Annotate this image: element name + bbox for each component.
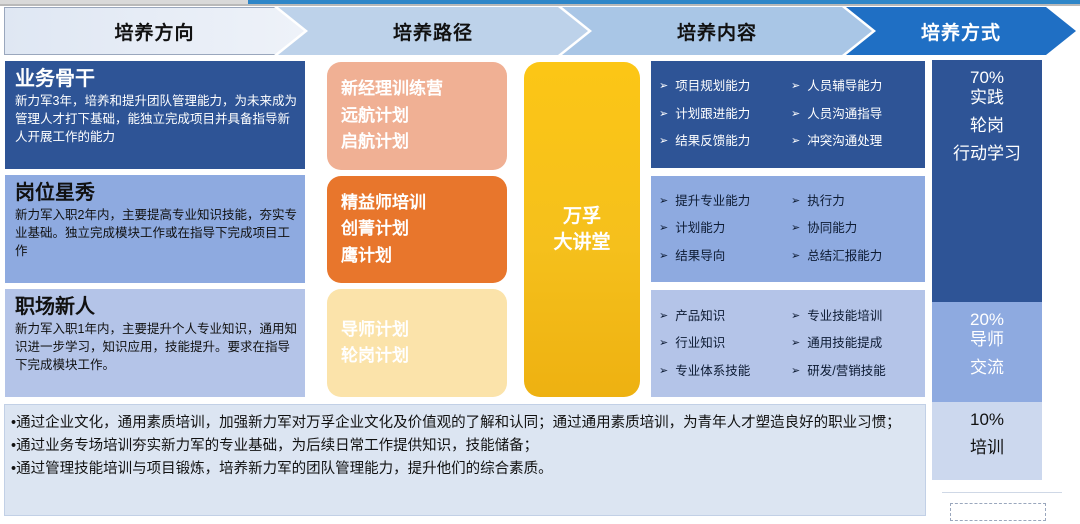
bullet-arrow-icon: ➢ bbox=[791, 338, 800, 349]
competency-label: 协同能力 bbox=[807, 221, 857, 236]
competency-label: 冲突沟通处理 bbox=[807, 134, 882, 149]
ratio-segment-10[interactable]: 10% 培训 bbox=[932, 402, 1042, 480]
note-item: •通过业务专场培训夯实新力军的专业基础，为后续日常工作提供知识，技能储备； bbox=[11, 435, 917, 457]
divider-rule bbox=[942, 492, 1062, 493]
competency-label: 总结汇报能力 bbox=[807, 249, 882, 264]
plan-card-manager-camp[interactable]: 新经理训练营 远航计划 启航计划 bbox=[327, 62, 507, 170]
plan-line: 启航计划 bbox=[341, 130, 493, 155]
breadcrumb-step-3-label: 培养内容 bbox=[677, 18, 757, 45]
competency-label: 人员沟通指导 bbox=[807, 107, 882, 122]
breadcrumb-step-1-label: 培养方向 bbox=[114, 18, 194, 45]
slide-canvas: 培养方向 培养路径 培养内容 培养方式 业务骨干 新力军3年，培养和提升团队管理… bbox=[0, 0, 1080, 524]
bullet-arrow-icon: ➢ bbox=[791, 366, 800, 377]
competency-item: ➢ 总结汇报能力 bbox=[791, 249, 917, 264]
bullet-arrow-icon: ➢ bbox=[659, 366, 668, 377]
bullet-arrow-icon: ➢ bbox=[791, 196, 800, 207]
breadcrumb-step-2-label: 培养路径 bbox=[393, 18, 473, 45]
breadcrumb-step-1[interactable]: 培养方向 bbox=[4, 7, 304, 55]
competency-item: ➢ 计划跟进能力 bbox=[659, 107, 791, 122]
bullet-arrow-icon: ➢ bbox=[659, 81, 668, 92]
audience-card-body: 新力军入职2年内，主要提高专业知识技能，夯实专业基础。独立完成模块工作或在指导下… bbox=[15, 207, 297, 260]
note-item: •通过管理技能培训与项目锻炼，培养新力军的团队管理能力，提升他们的综合素质。 bbox=[11, 458, 917, 480]
competency-label: 人员辅导能力 bbox=[807, 79, 882, 94]
ratio-extra: 轮岗 bbox=[970, 116, 1004, 136]
note-item: •通过企业文化，通用素质培训，加强新力军对万孚企业文化及价值观的了解和认同；通过… bbox=[11, 412, 917, 434]
ratio-segment-20[interactable]: 20% 导师 交流 bbox=[932, 302, 1042, 402]
bullet-arrow-icon: ➢ bbox=[791, 223, 800, 234]
competency-item: ➢ 人员辅导能力 bbox=[791, 79, 917, 94]
competency-item: ➢ 研发/营销技能 bbox=[791, 364, 917, 379]
competency-item: ➢ 项目规划能力 bbox=[659, 79, 791, 94]
ratio-label: 导师 bbox=[970, 330, 1004, 350]
bullet-arrow-icon: ➢ bbox=[659, 109, 668, 120]
ratio-label: 实践 bbox=[970, 88, 1004, 108]
competency-row: ➢ 结果导向 ➢ 总结汇报能力 bbox=[659, 249, 917, 264]
audience-card-title: 职场新人 bbox=[15, 297, 297, 318]
competency-item: ➢ 行业知识 bbox=[659, 336, 791, 351]
competency-item: ➢ 结果导向 bbox=[659, 249, 791, 264]
bullet-arrow-icon: ➢ bbox=[791, 311, 800, 322]
audience-card-newcomer[interactable]: 职场新人 新力军入职1年内，主要提升个人专业知识，通用知识进一步学习，知识应用，… bbox=[4, 288, 306, 398]
competency-item: ➢ 产品知识 bbox=[659, 309, 791, 324]
competency-row: ➢ 项目规划能力 ➢ 人员辅导能力 bbox=[659, 79, 917, 94]
bullet-arrow-icon: ➢ bbox=[659, 196, 668, 207]
competency-card-professional[interactable]: ➢ 提升专业能力 ➢ 执行力 ➢ 计划能力 ➢ 协同能力 bbox=[650, 175, 926, 284]
competency-item: ➢ 计划能力 bbox=[659, 221, 791, 236]
competency-label: 专业体系技能 bbox=[675, 364, 750, 379]
bullet-arrow-icon: ➢ bbox=[659, 136, 668, 147]
plan-line: 轮岗计划 bbox=[341, 344, 493, 369]
breadcrumb-step-2[interactable]: 培养路径 bbox=[278, 7, 588, 55]
competency-label: 提升专业能力 bbox=[675, 194, 750, 209]
competency-label: 项目规划能力 bbox=[675, 79, 750, 94]
audience-card-title: 业务骨干 bbox=[15, 69, 297, 90]
competency-item: ➢ 执行力 bbox=[791, 194, 917, 209]
plan-line: 精益师培训 bbox=[341, 191, 493, 216]
competency-label: 产品知识 bbox=[675, 309, 725, 324]
competency-label: 计划能力 bbox=[675, 221, 725, 236]
plan-card-lean-master[interactable]: 精益师培训 创菁计划 鹰计划 bbox=[327, 176, 507, 284]
plan-line: 导师计划 bbox=[341, 318, 493, 343]
competency-item: ➢ 提升专业能力 bbox=[659, 194, 791, 209]
bullet-arrow-icon: ➢ bbox=[659, 251, 668, 262]
competency-label: 专业技能培训 bbox=[807, 309, 882, 324]
competency-label: 结果反馈能力 bbox=[675, 134, 750, 149]
competency-row: ➢ 行业知识 ➢ 通用技能提成 bbox=[659, 336, 917, 351]
audience-card-title: 岗位星秀 bbox=[15, 183, 297, 204]
ratio-percent: 20% bbox=[970, 310, 1004, 330]
bullet-arrow-icon: ➢ bbox=[659, 311, 668, 322]
ratio-segment-70[interactable]: 70% 实践 轮岗 行动学习 bbox=[932, 60, 1042, 302]
competency-item: ➢ 结果反馈能力 bbox=[659, 134, 791, 149]
ratio-percent: 10% bbox=[970, 410, 1004, 430]
bullet-arrow-icon: ➢ bbox=[791, 81, 800, 92]
audience-card-body: 新力军3年，培养和提升团队管理能力，为未来成为管理人才打下基础，能独立完成项目并… bbox=[15, 93, 297, 146]
plan-line: 远航计划 bbox=[341, 104, 493, 129]
competency-column: ➢ 项目规划能力 ➢ 人员辅导能力 ➢ 计划跟进能力 ➢ 人员沟通指导 bbox=[650, 60, 926, 398]
plan-line: 新经理训练营 bbox=[341, 77, 493, 102]
audience-card-rising-star[interactable]: 岗位星秀 新力军入职2年内，主要提高专业知识技能，夯实专业基础。独立完成模块工作… bbox=[4, 174, 306, 284]
competency-label: 行业知识 bbox=[675, 336, 725, 351]
plan-line: 鹰计划 bbox=[341, 244, 493, 269]
placeholder-dashed-box bbox=[950, 503, 1046, 521]
summary-notes: •通过企业文化，通用素质培训，加强新力军对万孚企业文化及价值观的了解和认同；通过… bbox=[4, 404, 926, 516]
top-strip-divider bbox=[0, 4, 1080, 6]
competency-label: 通用技能提成 bbox=[807, 336, 882, 351]
competency-item: ➢ 专业体系技能 bbox=[659, 364, 791, 379]
audience-column: 业务骨干 新力军3年，培养和提升团队管理能力，为未来成为管理人才打下基础，能独立… bbox=[4, 60, 306, 398]
competency-row: ➢ 计划能力 ➢ 协同能力 bbox=[659, 221, 917, 236]
ratio-label: 培训 bbox=[970, 438, 1004, 458]
lecture-hall-card[interactable]: 万孚 大讲堂 bbox=[524, 62, 640, 397]
competency-label: 计划跟进能力 bbox=[675, 107, 750, 122]
lecture-hall-line-1: 万孚 bbox=[563, 204, 601, 230]
bullet-arrow-icon: ➢ bbox=[791, 251, 800, 262]
breadcrumb-step-4-label: 培养方式 bbox=[921, 18, 1001, 45]
bullet-arrow-icon: ➢ bbox=[659, 338, 668, 349]
competency-item: ➢ 人员沟通指导 bbox=[791, 107, 917, 122]
breadcrumb-step-3[interactable]: 培养内容 bbox=[562, 7, 872, 55]
ratio-extra: 交流 bbox=[970, 358, 1004, 378]
plan-line: 创菁计划 bbox=[341, 217, 493, 242]
bullet-arrow-icon: ➢ bbox=[791, 136, 800, 147]
plan-card-mentor-rotation[interactable]: 导师计划 轮岗计划 bbox=[327, 289, 507, 397]
audience-card-body: 新力军入职1年内，主要提升个人专业知识，通用知识进一步学习，知识应用，技能提升。… bbox=[15, 321, 297, 374]
competency-row: ➢ 专业体系技能 ➢ 研发/营销技能 bbox=[659, 364, 917, 379]
competency-row: ➢ 产品知识 ➢ 专业技能培训 bbox=[659, 309, 917, 324]
competency-row: ➢ 提升专业能力 ➢ 执行力 bbox=[659, 194, 917, 209]
breadcrumb-step-4-active[interactable]: 培养方式 bbox=[846, 7, 1076, 55]
competency-label: 研发/营销技能 bbox=[807, 364, 885, 379]
competency-row: ➢ 结果反馈能力 ➢ 冲突沟通处理 bbox=[659, 134, 917, 149]
competency-item: ➢ 冲突沟通处理 bbox=[791, 134, 917, 149]
competency-item: ➢ 协同能力 bbox=[791, 221, 917, 236]
ratio-extra: 行动学习 bbox=[953, 144, 1021, 164]
competency-card-management[interactable]: ➢ 项目规划能力 ➢ 人员辅导能力 ➢ 计划跟进能力 ➢ 人员沟通指导 bbox=[650, 60, 926, 169]
audience-card-core-staff[interactable]: 业务骨干 新力军3年，培养和提升团队管理能力，为未来成为管理人才打下基础，能独立… bbox=[4, 60, 306, 170]
competency-row: ➢ 计划跟进能力 ➢ 人员沟通指导 bbox=[659, 107, 917, 122]
learning-ratio-column: 70% 实践 轮岗 行动学习 20% 导师 交流 10% 培训 bbox=[932, 60, 1042, 480]
competency-card-knowledge[interactable]: ➢ 产品知识 ➢ 专业技能培训 ➢ 行业知识 ➢ 通用技能提成 bbox=[650, 289, 926, 398]
competency-item: ➢ 通用技能提成 bbox=[791, 336, 917, 351]
lecture-hall-line-2: 大讲堂 bbox=[553, 230, 610, 256]
ratio-percent: 70% bbox=[970, 68, 1004, 88]
competency-label: 结果导向 bbox=[675, 249, 725, 264]
competency-label: 执行力 bbox=[807, 194, 845, 209]
competency-item: ➢ 专业技能培训 bbox=[791, 309, 917, 324]
breadcrumb: 培养方向 培养路径 培养内容 培养方式 bbox=[4, 7, 1076, 55]
plan-column: 新经理训练营 远航计划 启航计划 精益师培训 创菁计划 鹰计划 导师计划 轮岗计… bbox=[327, 62, 507, 397]
bullet-arrow-icon: ➢ bbox=[659, 223, 668, 234]
bullet-arrow-icon: ➢ bbox=[791, 109, 800, 120]
